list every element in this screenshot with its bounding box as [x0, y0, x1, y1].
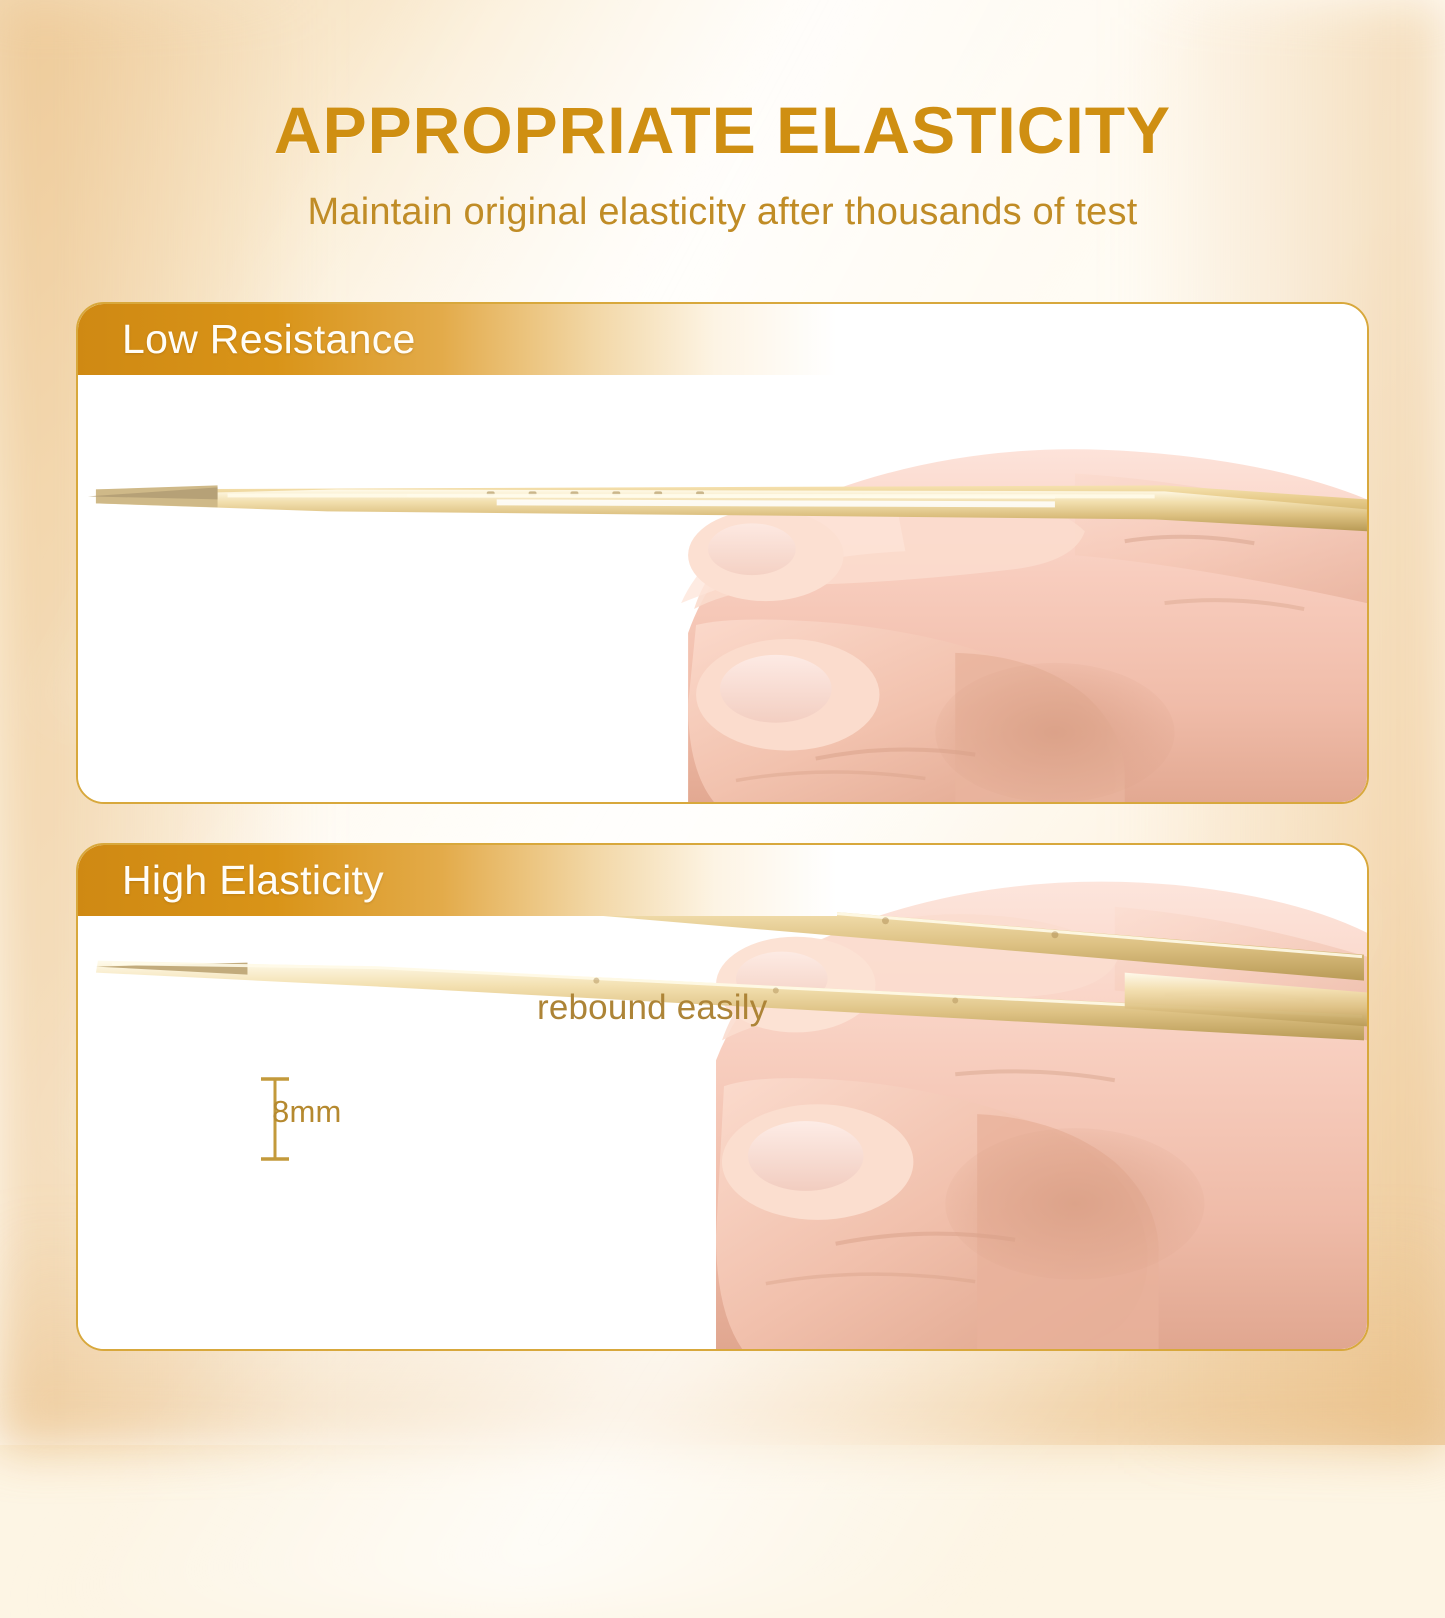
banner-label-low-resistance: Low Resistance — [122, 316, 416, 363]
banner-high-elasticity: High Elasticity — [77, 844, 837, 916]
dimension-label: 8mm — [272, 1094, 342, 1130]
panel-low-resistance: Low Resistance — [76, 302, 1369, 804]
banner-low-resistance: Low Resistance — [77, 303, 837, 375]
heading-block: APPROPRIATE ELASTICITY Maintain original… — [0, 96, 1445, 234]
page-subtitle: Maintain original elasticity after thous… — [0, 191, 1445, 234]
rebound-easily-label: rebound easily — [537, 988, 767, 1028]
photo-hand-closed-tweezers — [78, 304, 1367, 804]
banner-label-high-elasticity: High Elasticity — [122, 857, 384, 904]
page-title: APPROPRIATE ELASTICITY — [0, 96, 1445, 165]
